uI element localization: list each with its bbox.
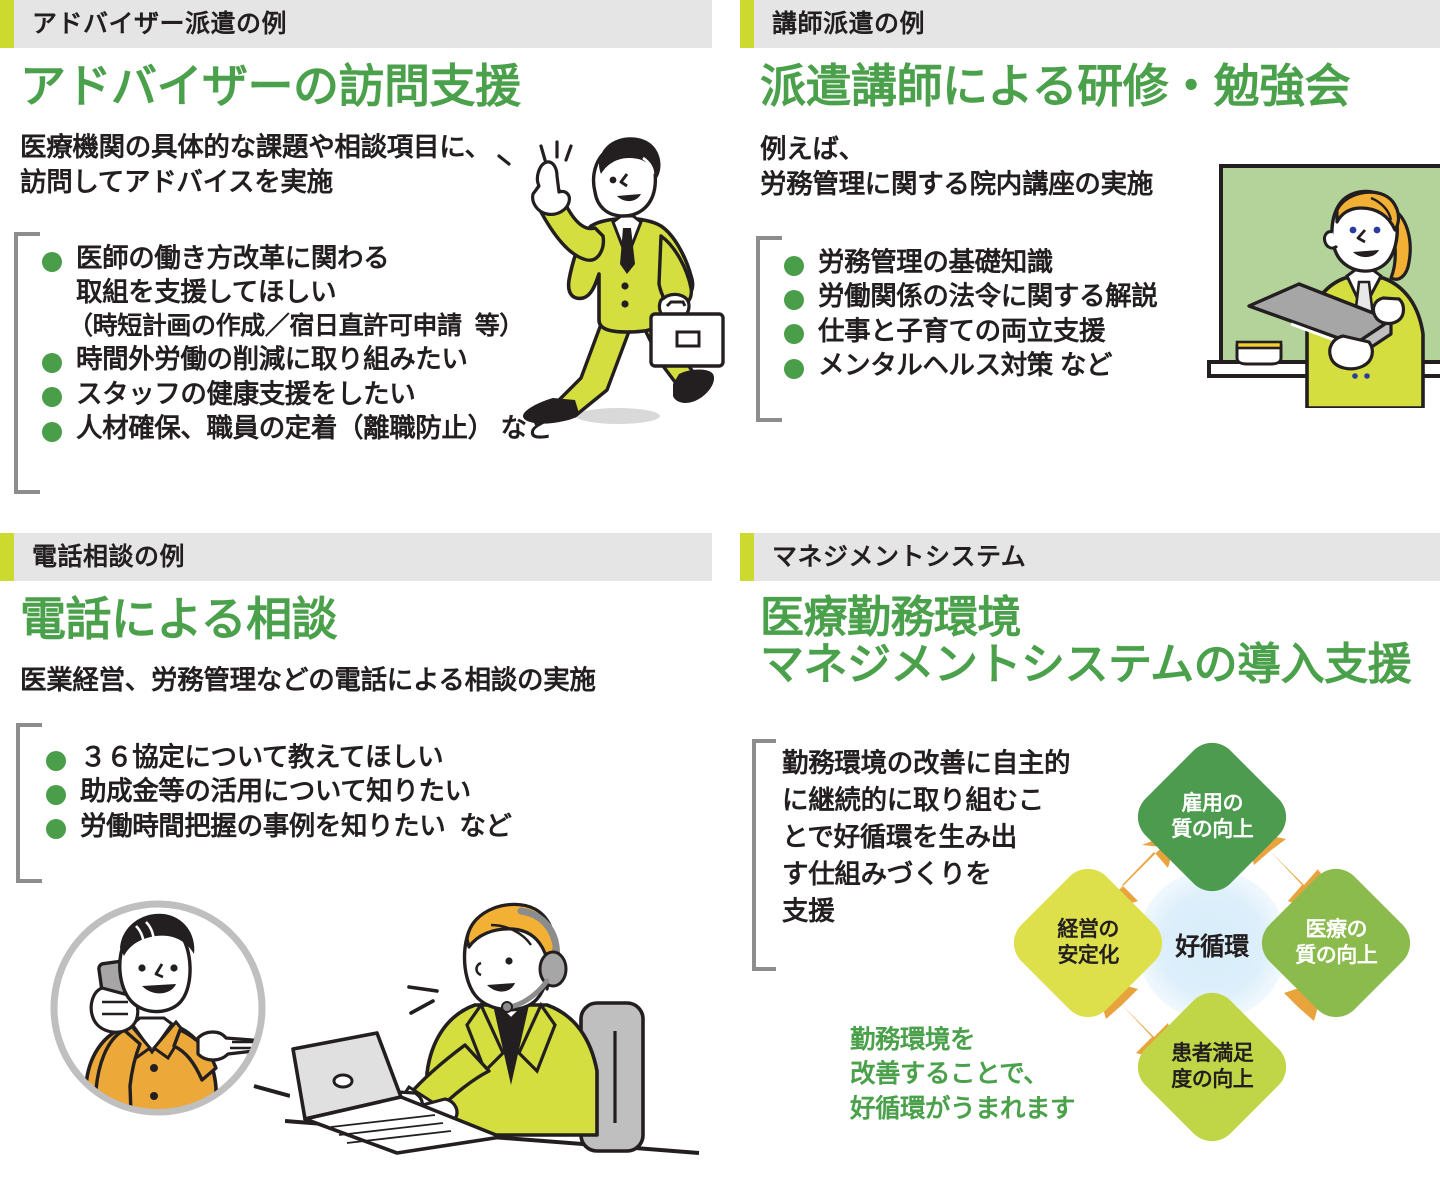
accent-bar — [0, 0, 14, 48]
list-item: ３６協定について教えてほしい — [44, 740, 644, 774]
panel-management-header: マネジメントシステム — [740, 533, 1440, 581]
list-item: 労働関係の法令に関する解説 — [782, 279, 1242, 313]
bullet-dot-icon — [46, 751, 66, 771]
bullet-dot-icon — [784, 359, 804, 379]
bullet-dot-icon — [784, 324, 804, 344]
panel-management: マネジメントシステム 医療勤務環境 マネジメントシステムの導入支援 勤務環境の改… — [740, 533, 1440, 1179]
panel-lecturer-header-label: 講師派遣の例 — [754, 12, 925, 37]
accent-bar — [740, 0, 754, 48]
headset-operator-illustration — [285, 885, 705, 1185]
list-item: 労務管理の基礎知識 — [782, 245, 1242, 279]
list-item: 仕事と子育ての両立支援 — [782, 314, 1242, 348]
cycle-node-bottom-label: 患者満足 度の向上 — [1171, 1041, 1253, 1092]
panel-management-title: 医療勤務環境 マネジメントシステムの導入支援 — [760, 595, 1411, 688]
panel-phone-lead: 医業経営、労務管理などの電話による相談の実施 — [20, 663, 680, 698]
panel-advisor-header: アドバイザー派遣の例 — [0, 0, 712, 48]
bullet-dot-icon — [42, 252, 62, 272]
accent-bar — [0, 533, 14, 581]
walking-businessman-illustration — [495, 128, 725, 433]
cycle-node-left-label: 経営の 安定化 — [1057, 917, 1119, 968]
panel-lecturer-bullet-list: 労務管理の基礎知識 労働関係の法令に関する解説 仕事と子育ての両立支援 メンタル… — [782, 245, 1242, 383]
bullet-dot-icon — [42, 387, 62, 407]
bullet-dot-icon — [42, 353, 62, 373]
list-item: 助成金等の活用について知りたい — [44, 774, 644, 808]
bullet-dot-icon — [784, 290, 804, 310]
panel-phone-title: 電話による相談 — [20, 595, 337, 644]
panel-advisor: アドバイザー派遣の例 アドバイザーの訪問支援 医療機関の具体的な課題や相談項目に… — [0, 0, 712, 520]
panel-lecturer-lead: 例えば、 労務管理に関する院内講座の実施 — [760, 132, 1240, 202]
panel-advisor-lead: 医療機関の具体的な課題や相談項目に、 訪問してアドバイスを実施 — [20, 130, 540, 200]
bullet-dot-icon — [46, 785, 66, 805]
panel-lecturer: 講師派遣の例 派遣講師による研修・勉強会 例えば、 労務管理に関する院内講座の実… — [740, 0, 1440, 520]
panel-phone-header-label: 電話相談の例 — [14, 545, 185, 570]
panel-management-header-label: マネジメントシステム — [754, 545, 1026, 570]
man-on-phone-illustration — [40, 890, 290, 1140]
panel-phone: 電話相談の例 電話による相談 医業経営、労務管理などの電話による相談の実施 ３６… — [0, 533, 712, 1179]
virtuous-cycle-diagram: 好循環 雇用の 質の向上 医療の 質の向上 患者満足 度の向上 経営の 安定化 — [1002, 735, 1422, 1155]
cycle-node-right-label: 医療の 質の向上 — [1295, 917, 1377, 968]
lecturer-chalkboard-illustration — [1195, 158, 1440, 408]
bullet-dot-icon — [42, 422, 62, 442]
bullet-dot-icon — [784, 256, 804, 276]
list-item: 労働時間把握の事例を知りたい など — [44, 809, 644, 843]
panel-lecturer-header: 講師派遣の例 — [740, 0, 1440, 48]
list-item: メンタルヘルス対策 など — [782, 348, 1242, 382]
accent-bar — [740, 533, 754, 581]
panel-phone-header: 電話相談の例 — [0, 533, 712, 581]
panel-advisor-header-label: アドバイザー派遣の例 — [14, 12, 287, 37]
cycle-center-label: 好循環 — [1175, 927, 1249, 963]
bullet-dot-icon — [46, 819, 66, 839]
cycle-node-top-label: 雇用の 質の向上 — [1171, 791, 1253, 842]
panel-lecturer-title: 派遣講師による研修・勉強会 — [760, 62, 1350, 111]
panel-phone-bullet-list: ３６協定について教えてほしい 助成金等の活用について知りたい 労働時間把握の事例… — [44, 740, 644, 843]
panel-advisor-title: アドバイザーの訪問支援 — [20, 62, 521, 111]
